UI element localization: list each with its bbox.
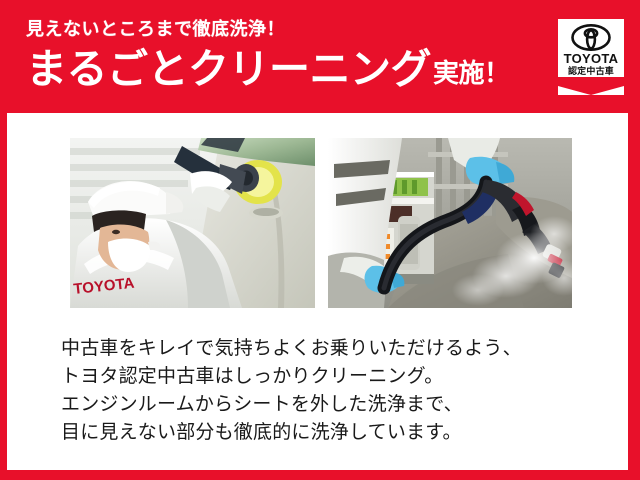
body-line: エンジンルームからシートを外した洗浄まで、 xyxy=(61,391,601,419)
headline-main: まるごとクリーニング xyxy=(26,46,431,92)
badge-wordmark: TOYOTA xyxy=(558,52,624,66)
badge-jp-label: 認定中古車 xyxy=(558,66,624,77)
toyota-ellipse-emblem-icon xyxy=(571,24,611,51)
header-kicker: 見えないところまで徹底洗浄！ xyxy=(26,18,546,40)
red-chevron-banner-icon xyxy=(558,77,624,95)
photo-steam-cleaning-illustration xyxy=(328,138,572,308)
photo-steam-cleaning xyxy=(328,138,572,308)
headline-row: まるごとクリーニング 実施！ xyxy=(26,46,546,92)
body-copy: 中古車をキレイで気持ちよくお乗りいただけるよう、 トヨタ認定中古車はしっかりクリ… xyxy=(61,335,601,447)
body-line: 目に見えない部分も徹底的に洗浄しています。 xyxy=(61,419,601,447)
badge-inner: TOYOTA 認定中古車 xyxy=(558,19,624,95)
photo-polishing: TOYOTA xyxy=(70,138,315,308)
promo-poster: 見えないところまで徹底洗浄！ まるごとクリーニング 実施！ TOYOTA 認定中… xyxy=(0,0,640,480)
body-line: 中古車をキレイで気持ちよくお乗りいただけるよう、 xyxy=(61,335,601,363)
toyota-certified-badge: TOYOTA 認定中古車 xyxy=(558,19,624,95)
photo-row: TOYOTA xyxy=(70,138,572,308)
poster-header: 見えないところまで徹底洗浄！ まるごとクリーニング 実施！ TOYOTA 認定中… xyxy=(0,0,640,113)
content-card: TOYOTA xyxy=(7,113,628,470)
headline-suffix: 実施！ xyxy=(433,56,510,90)
body-line: トヨタ認定中古車はしっかりクリーニング。 xyxy=(61,363,601,391)
header-text-block: 見えないところまで徹底洗浄！ まるごとクリーニング 実施！ xyxy=(26,18,546,92)
photo-polishing-illustration: TOYOTA xyxy=(70,138,315,308)
